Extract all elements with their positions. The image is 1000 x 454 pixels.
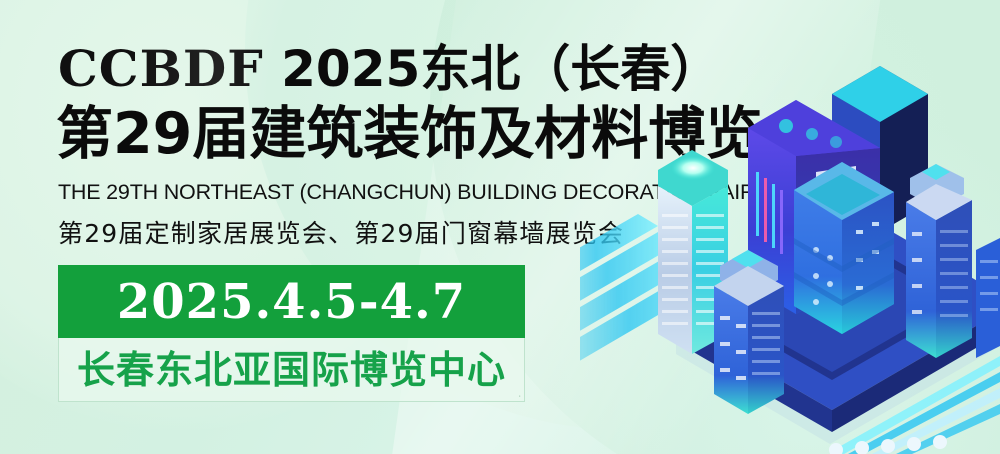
subtitle-chinese: 第29届定制家居展览会、第29届门窗幕墙展览会 [58,214,624,250]
exhibition-banner: CCBDF 2025东北（长春） 第29届建筑装饰及材料博览会 THE 29TH… [0,0,1000,454]
tower-front-small [714,250,784,414]
event-venue: 长春东北亚国际博览中心 [58,338,525,402]
card-corner-mark: · [519,393,521,400]
date-venue-card: 2025.4.5-4.7 长春东北亚国际博览中心 · [58,265,525,402]
tower-center-block [794,162,894,334]
tower-right-pair [906,164,1000,358]
isometric-city-illustration [580,54,1000,454]
event-date: 2025.4.5-4.7 [117,278,466,326]
ccbdf-logo-text: CCBDF [58,39,264,98]
date-panel: 2025.4.5-4.7 [58,265,525,338]
